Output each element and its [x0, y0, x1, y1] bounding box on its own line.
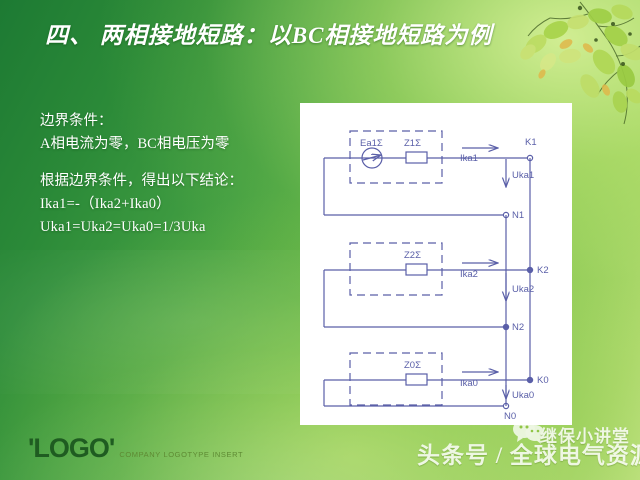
watermark-account-name: 继保小讲堂	[540, 422, 630, 447]
footer-logo: 'LOGO' COMPANY LOGOTYPE INSERT	[28, 435, 243, 462]
label-voltage-positive: Uka1	[512, 170, 534, 181]
boundary-conditions-detail: A相电流为零，BC相电压为零	[40, 133, 290, 156]
circuit-diagram-panel: Ea1Σ Z1Σ Ika1 Uka1 K1 N1 Z2Σ Ika2 Uka2 K…	[300, 103, 572, 425]
text-spacer	[40, 156, 290, 170]
dashed-box-zero	[350, 353, 442, 405]
watermark-source: 头条号 / 全球电气资源	[417, 436, 632, 470]
conclusion-equation-voltage: Uka1=Uka2=Uka0=1/3Uka	[40, 216, 290, 239]
logo-text: 'LOGO'	[28, 435, 114, 462]
label-current-positive: Ika1	[460, 153, 478, 164]
diagram-labels: Ea1Σ Z1Σ Ika1 Uka1 K1 N1 Z2Σ Ika2 Uka2 K…	[360, 137, 549, 422]
conclusion-heading: 根据边界条件，得出以下结论：	[40, 170, 290, 193]
impedance-symbol-negative	[406, 264, 427, 275]
impedance-symbol-positive	[406, 152, 427, 163]
dashed-box-negative	[350, 243, 442, 295]
label-neutral-n2: N2	[512, 322, 524, 333]
label-neutral-n0: N0	[504, 411, 516, 422]
label-source-positive: Ea1Σ	[360, 138, 383, 149]
label-terminal-k0: K0	[537, 375, 549, 386]
label-current-negative: Ika2	[460, 269, 478, 280]
sequence-network-diagram: Ea1Σ Z1Σ Ika1 Uka1 K1 N1 Z2Σ Ika2 Uka2 K…	[300, 103, 572, 425]
slide-canvas: 四、 两相接地短路：以BC相接地短路为例 边界条件： A相电流为零，BC相电压为…	[0, 0, 640, 480]
label-voltage-zero: Uka0	[512, 390, 534, 401]
slide-title: 四、 两相接地短路：以BC相接地短路为例	[45, 16, 605, 50]
boundary-conditions-heading: 边界条件：	[40, 110, 290, 133]
conclusion-equation-current: Ika1=-（Ika2+Ika0）	[40, 193, 290, 216]
label-impedance-positive: Z1Σ	[404, 138, 421, 149]
body-text-block: 边界条件： A相电流为零，BC相电压为零 根据边界条件，得出以下结论： Ika1…	[40, 110, 290, 239]
label-neutral-n1: N1	[512, 210, 524, 221]
logo-subtitle: COMPANY LOGOTYPE INSERT	[119, 450, 243, 459]
label-impedance-zero: Z0Σ	[404, 360, 421, 371]
label-terminal-k1: K1	[525, 137, 537, 148]
label-terminal-k2: K2	[537, 265, 549, 276]
label-current-zero: Ika0	[460, 378, 478, 389]
label-voltage-negative: Uka2	[512, 284, 534, 295]
label-impedance-negative: Z2Σ	[404, 250, 421, 261]
impedance-symbol-zero	[406, 374, 427, 385]
watermark: 继保小讲堂 头条号 / 全球电气资源	[417, 418, 632, 474]
